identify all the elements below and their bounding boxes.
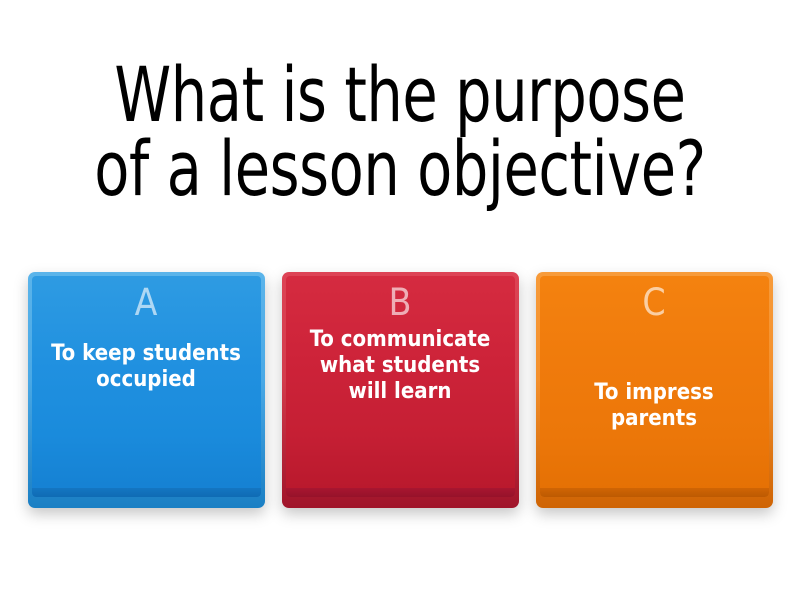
answer-card-b-face: B To communicate what students will lear… xyxy=(286,276,515,497)
answer-card-c[interactable]: C To impress parents xyxy=(536,272,773,508)
answer-text-b: To communicate what students will learn xyxy=(302,327,499,405)
quiz-stage: What is the purpose of a lesson objectiv… xyxy=(0,0,800,600)
answer-card-a[interactable]: A To keep students occupied xyxy=(28,272,265,508)
answer-card-a-face: A To keep students occupied xyxy=(32,276,261,497)
answer-letter-a: A xyxy=(135,284,158,323)
answer-card-a-bevel xyxy=(32,488,261,497)
answer-text-c: To impress parents xyxy=(556,380,753,432)
answer-options-row: A To keep students occupied B To communi… xyxy=(0,272,800,508)
answer-card-b[interactable]: B To communicate what students will lear… xyxy=(282,272,519,508)
answer-text-slot-a: To keep students occupied xyxy=(48,323,245,497)
answer-letter-c: C xyxy=(642,284,665,323)
answer-text-a: To keep students occupied xyxy=(48,341,245,393)
question-block: What is the purpose of a lesson objectiv… xyxy=(20,58,780,207)
answer-card-c-bevel xyxy=(540,488,769,497)
question-title: What is the purpose of a lesson objectiv… xyxy=(81,58,719,207)
answer-text-slot-c: To impress parents xyxy=(556,323,753,497)
answer-text-slot-b: To communicate what students will learn xyxy=(302,323,499,497)
answer-card-b-bevel xyxy=(286,488,515,497)
answer-card-c-face: C To impress parents xyxy=(540,276,769,497)
answer-letter-b: B xyxy=(389,284,412,323)
